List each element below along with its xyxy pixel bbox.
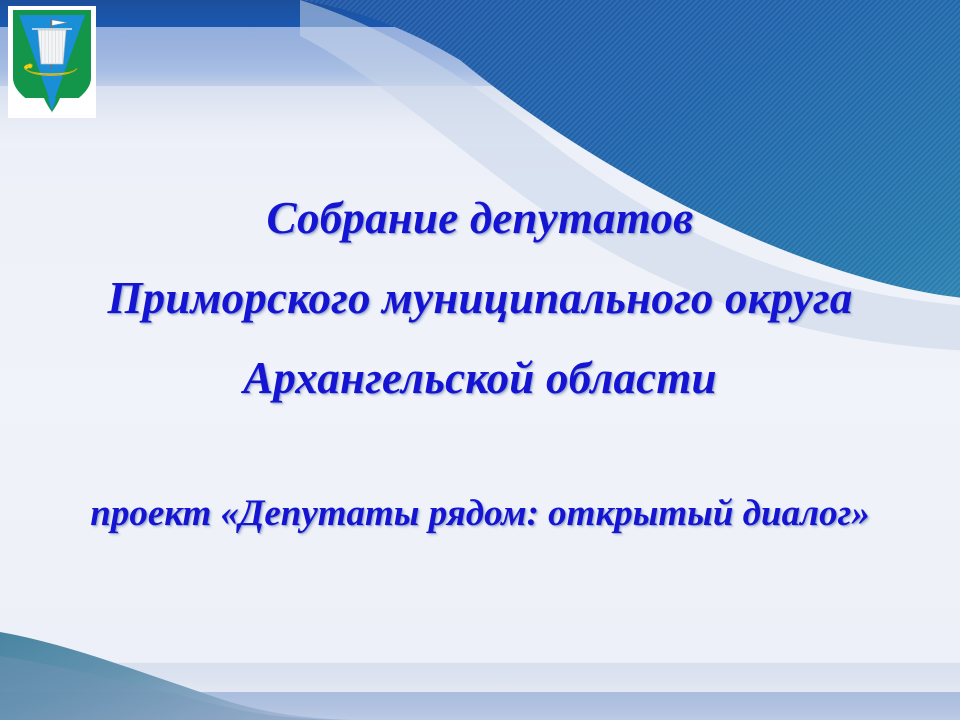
- title-line-1: Собрание депутатов: [0, 178, 960, 258]
- top-accent-band: [0, 0, 960, 27]
- subtitle-line-1: проект «Депутаты рядом: открытый диалог»: [0, 488, 960, 540]
- bottom-blue-band: [0, 692, 960, 720]
- title-line-2: Приморского муниципального округа: [0, 258, 960, 338]
- bottom-left-wave: [0, 610, 430, 720]
- top-band-fade: [0, 86, 960, 146]
- coat-of-arms-emblem: [8, 6, 96, 118]
- presentation-slide: Собрание депутатов Приморского муниципал…: [0, 0, 960, 720]
- slide-title: Собрание депутатов Приморского муниципал…: [0, 178, 960, 418]
- slide-subtitle: проект «Депутаты рядом: открытый диалог»: [0, 488, 960, 540]
- top-secondary-band: [0, 27, 960, 88]
- bottom-light-band: [0, 662, 960, 693]
- title-line-3: Архангельской области: [0, 338, 960, 418]
